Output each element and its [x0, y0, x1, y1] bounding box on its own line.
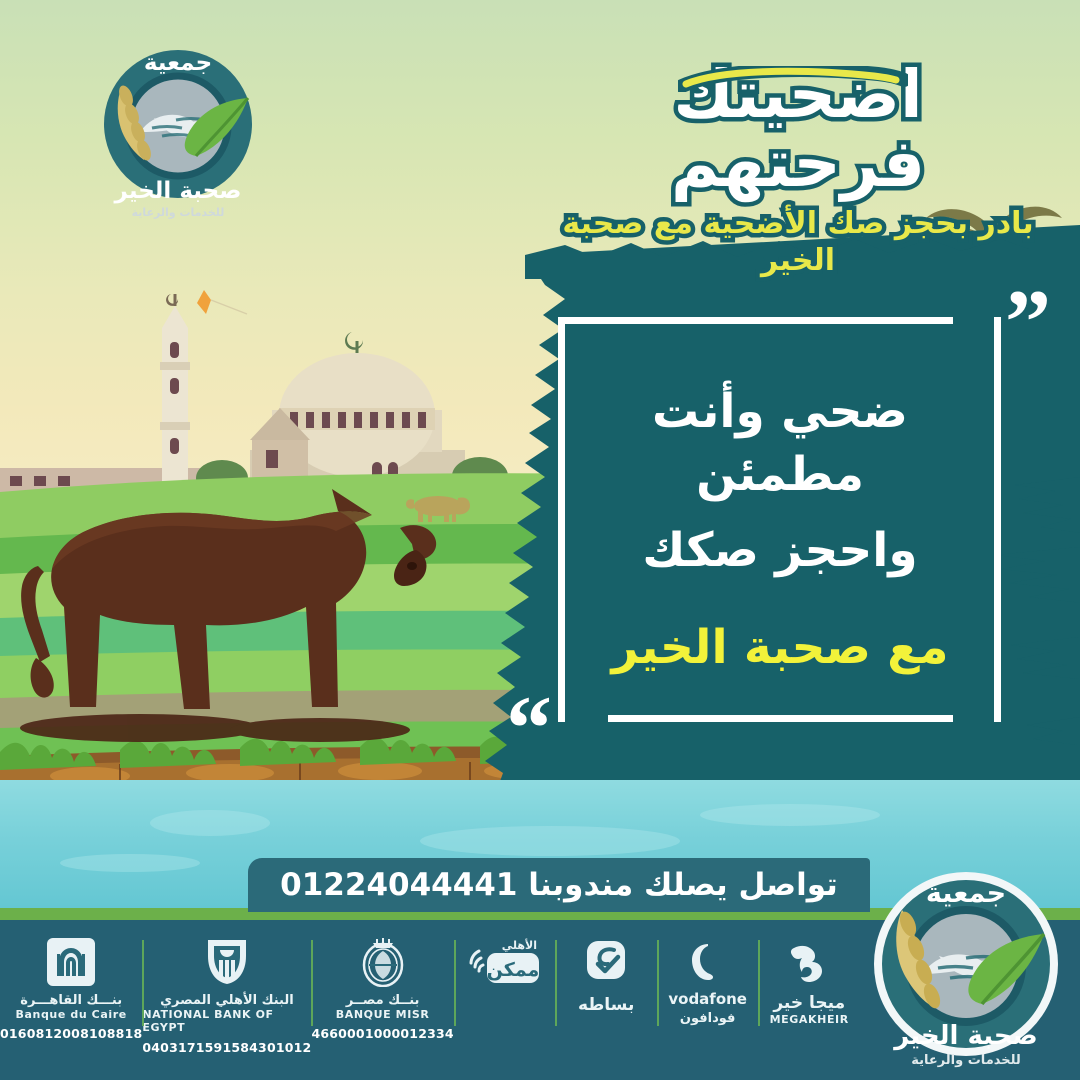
- partner-name-en: Banque du Caire: [16, 1008, 127, 1021]
- partner-name-ar: بساطه: [578, 996, 634, 1015]
- basata-check-icon: [582, 934, 630, 990]
- partner-name-en: MEGAKHEIR: [770, 1013, 849, 1026]
- partner-account: 0403171591584301012: [142, 1040, 311, 1055]
- headline-swoosh-icon: [678, 66, 908, 92]
- organization-logo-top: جمعية صحبة الخير للخدمات والرعاية: [78, 36, 278, 226]
- contact-bar[interactable]: تواصل يصلك مندوبنا 01224044441: [248, 858, 870, 912]
- open-quote-icon: “: [506, 703, 552, 754]
- logo-top-word: جمعية: [144, 50, 212, 76]
- brown-cow-illustration: [20, 480, 470, 770]
- logo-bottom-main-word: صحبة الخير: [892, 1021, 1038, 1051]
- logo-bottom-tagline: للخدمات والرعاية: [911, 1053, 1021, 1068]
- partner-name-ar: البنك الأهلي المصري: [160, 994, 294, 1008]
- partner-basata[interactable]: بساطه: [555, 928, 657, 1079]
- contact-text: تواصل يصلك مندوبنا 01224044441: [280, 867, 838, 903]
- campaign-headline: اضحيتك فرحتهم بادر بحجز صك الأضحية مع صح…: [538, 60, 1058, 280]
- partner-name-ar: فودافون: [680, 1012, 736, 1026]
- partner-name-ar: بنــك مصــر: [346, 994, 420, 1008]
- headline-sub: بادر بحجز صك الأضحية مع صحبة الخير: [538, 205, 1058, 280]
- momkn-wifi-icon: الأهلي ممكن: [465, 934, 545, 990]
- headline-sub-wrap: بادر بحجز صك الأضحية مع صحبة الخير: [538, 201, 1058, 280]
- momkn-badge: الأهلي: [501, 938, 536, 952]
- partner-vodafone[interactable]: vodafone فودافون: [657, 928, 759, 1079]
- logo-bottom-top-word: جمعية: [926, 878, 1006, 909]
- partner-ahly-momkn[interactable]: الأهلي ممكن: [454, 928, 556, 1079]
- quote-text-block: ضحي وأنت مطمئن واحجز صكك مع صحبة الخير: [560, 380, 1000, 680]
- quote-line-1: ضحي وأنت مطمئن: [560, 380, 1000, 507]
- logo-tagline: للخدمات والرعاية: [132, 206, 225, 219]
- partner-megakheir[interactable]: ميجا خير MEGAKHEIR: [758, 928, 860, 1079]
- quote-line-2: واحجز صكك: [560, 519, 1000, 582]
- vodafone-comma-icon: [688, 934, 728, 990]
- close-quote-icon: ”: [1005, 297, 1051, 348]
- partner-name-ar: بنـــك القاهـــرة: [20, 994, 122, 1008]
- partner-name-ar: ميجا خير: [773, 994, 845, 1013]
- megakheir-bird-icon: [786, 934, 832, 990]
- frame-line-bottom: [608, 715, 953, 722]
- logo-bottom-word: صحبة الخير: [114, 178, 242, 204]
- bank-arch-icon: [47, 934, 95, 990]
- partner-national-bank-of-egypt[interactable]: البنك الأهلي المصري NATIONAL BANK OF EGY…: [142, 928, 311, 1079]
- quote-line-3: مع صحبة الخير: [560, 616, 1000, 679]
- momkn-wordmark: ممكن: [486, 959, 539, 981]
- partner-name-en: NATIONAL BANK OF EGYPT: [142, 1008, 311, 1034]
- organization-logo-bottom: جمعية صحبة الخير للخدمات والرعاية: [860, 864, 1072, 1076]
- bank-crest-icon: [359, 934, 407, 990]
- partner-banque-misr[interactable]: بنــك مصــر BANQUE MISR 4660001000012334: [311, 928, 453, 1079]
- bank-pillar-icon: [202, 934, 252, 990]
- partner-name-en: BANQUE MISR: [336, 1008, 430, 1021]
- partner-logos-strip: بنـــك القاهـــرة Banque du Caire 016081…: [0, 928, 860, 1073]
- poster-canvas: ” “ ضحي وأنت مطمئن واحجز صكك مع صحبة الخ…: [0, 0, 1080, 1080]
- partner-name-en: vodafone: [668, 990, 747, 1008]
- partner-banque-du-caire[interactable]: بنـــك القاهـــرة Banque du Caire 016081…: [0, 928, 142, 1079]
- partner-account: 0160812008108818: [0, 1026, 142, 1041]
- partner-account: 4660001000012334: [311, 1026, 453, 1041]
- frame-line-top: [558, 317, 953, 324]
